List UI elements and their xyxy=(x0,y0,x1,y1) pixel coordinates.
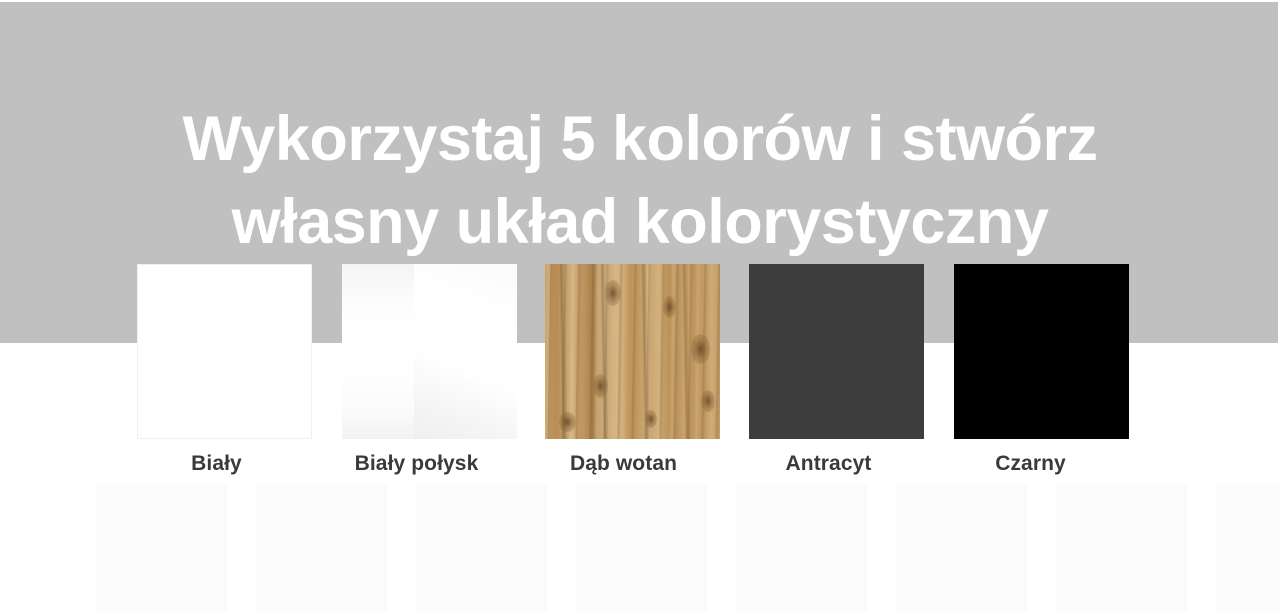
color-option-antracyt[interactable]: Antracyt xyxy=(749,264,924,439)
placeholder-card-row xyxy=(0,484,1280,613)
color-swatch-label: Biały połysk xyxy=(329,452,504,476)
color-option-bialy[interactable]: Biały xyxy=(137,264,312,439)
placeholder-card xyxy=(1056,484,1187,613)
placeholder-card xyxy=(896,484,1027,613)
placeholder-card xyxy=(416,484,547,613)
color-swatch-label: Czarny xyxy=(943,452,1118,476)
color-swatch-label: Dąb wotan xyxy=(536,452,711,476)
color-swatch-label: Antracyt xyxy=(741,452,916,476)
color-option-bialy-polysk[interactable]: Biały połysk xyxy=(342,264,517,439)
placeholder-card xyxy=(736,484,867,613)
placeholder-card xyxy=(96,484,227,613)
color-swatch-tile[interactable] xyxy=(749,264,924,439)
wood-knot-icon xyxy=(559,412,576,432)
wood-knot-icon xyxy=(663,296,676,318)
placeholder-card xyxy=(576,484,707,613)
wood-knot-icon xyxy=(691,334,710,364)
color-swatch-tile[interactable] xyxy=(545,264,720,439)
color-option-dab-wotan[interactable]: Dąb wotan xyxy=(545,264,720,439)
wood-knot-icon xyxy=(645,410,657,428)
wood-knot-icon xyxy=(605,280,621,306)
color-swatch-row: Biały Biały połysk Dąb wotan Antracyt Cz… xyxy=(0,264,1280,494)
color-option-czarny[interactable]: Czarny xyxy=(954,264,1129,439)
placeholder-card xyxy=(1216,484,1280,613)
placeholder-card xyxy=(256,484,387,613)
color-swatch-tile[interactable] xyxy=(342,264,517,439)
page-title: Wykorzystaj 5 kolorów i stwórz własny uk… xyxy=(0,98,1280,264)
wood-knot-icon xyxy=(593,374,608,398)
color-swatch-tile[interactable] xyxy=(954,264,1129,439)
color-swatch-tile[interactable] xyxy=(137,264,312,439)
wood-knot-icon xyxy=(701,390,715,412)
color-swatch-label: Biały xyxy=(129,452,304,476)
